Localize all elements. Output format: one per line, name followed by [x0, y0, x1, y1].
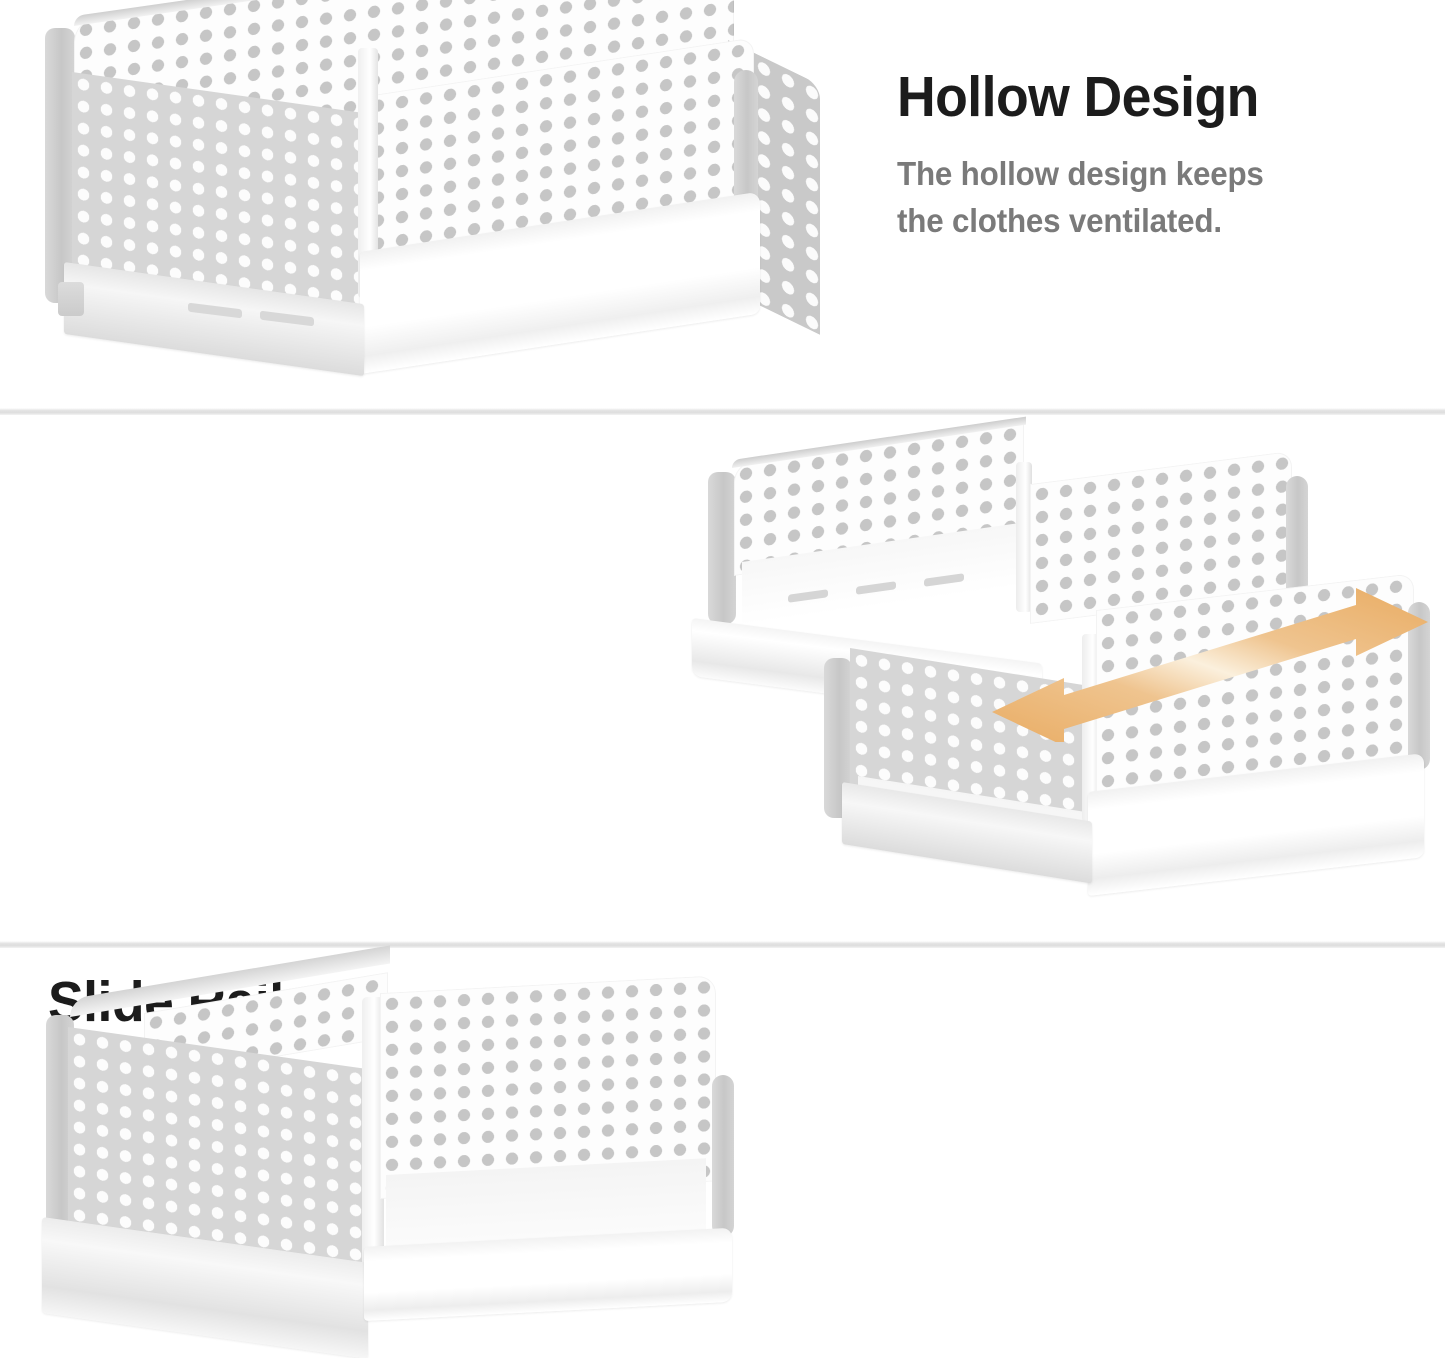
panel-divider: [0, 408, 1445, 415]
slide-direction-arrow-icon: [990, 572, 1430, 742]
product-image-reinforced-snap: [24, 979, 784, 1327]
panel-reinforced-snap: Reinforced Snap Reinforced buckles to in…: [0, 951, 1445, 1358]
infographic-page: Hollow Design The hollow design keeps th…: [0, 0, 1445, 1358]
product-image-slide-rails: [690, 450, 1430, 920]
panel-slide-rails: Slide Rails Stable stacking and easy sli…: [0, 418, 1445, 945]
panel-body: The hollow design keeps the clothes vent…: [897, 151, 1401, 245]
panel-divider: [0, 941, 1445, 948]
basket-corner-post-right: [712, 1075, 734, 1237]
product-image-hollow-design: [28, 14, 818, 396]
upper-basket-corner-post-left: [708, 472, 736, 624]
panel-heading: Hollow Design: [897, 68, 1395, 127]
panel-body-line: The hollow design keeps: [897, 151, 1401, 198]
panel-body-line: the clothes ventilated.: [897, 198, 1401, 245]
slide-direction-arrow: [990, 572, 1430, 742]
basket-foot-left: [58, 282, 84, 316]
basket-corner-post-left: [45, 28, 75, 303]
panel-hollow-design: Hollow Design The hollow design keeps th…: [0, 0, 1445, 412]
text-block-hollow-design: Hollow Design The hollow design keeps th…: [897, 68, 1427, 245]
